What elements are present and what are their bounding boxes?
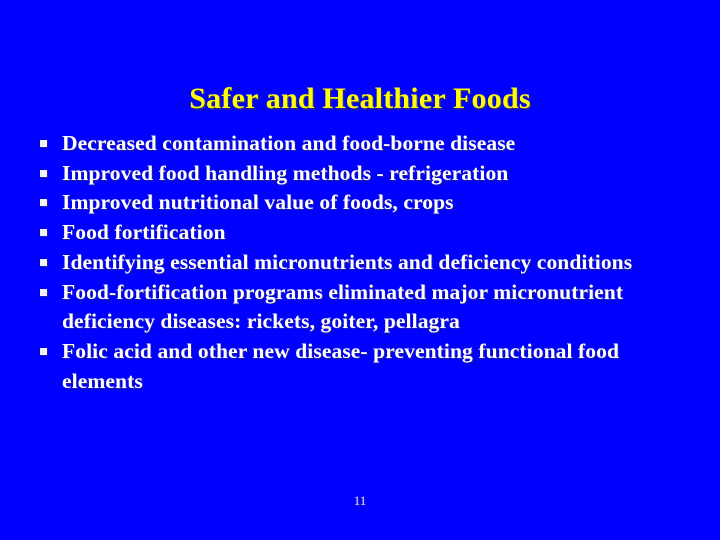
bullet-list: Decreased contamination and food-borne d… xyxy=(36,129,696,396)
list-item-label: Food fortification xyxy=(62,218,696,248)
list-item: Identifying essential micronutrients and… xyxy=(36,248,696,278)
list-item: Improved food handling methods - refrige… xyxy=(36,159,696,189)
square-bullet-icon xyxy=(40,259,47,266)
page-number: 11 xyxy=(0,493,720,509)
page-title: Safer and Healthier Foods xyxy=(0,82,720,116)
list-item: Food-fortification programs eliminated m… xyxy=(36,278,696,337)
list-item-label: Folic acid and other new disease- preven… xyxy=(62,337,696,396)
square-bullet-icon xyxy=(40,140,47,147)
list-item-label: Improved nutritional value of foods, cro… xyxy=(62,188,696,218)
square-bullet-icon xyxy=(40,170,47,177)
list-item-label: Identifying essential micronutrients and… xyxy=(62,248,696,278)
list-item-label: Food-fortification programs eliminated m… xyxy=(62,278,696,337)
list-item: Improved nutritional value of foods, cro… xyxy=(36,188,696,218)
list-item: Folic acid and other new disease- preven… xyxy=(36,337,696,396)
square-bullet-icon xyxy=(40,199,47,206)
list-item-label: Improved food handling methods - refrige… xyxy=(62,159,696,189)
square-bullet-icon xyxy=(40,348,47,355)
list-item: Decreased contamination and food-borne d… xyxy=(36,129,696,159)
list-item-label: Decreased contamination and food-borne d… xyxy=(62,129,696,159)
square-bullet-icon xyxy=(40,289,47,296)
square-bullet-icon xyxy=(40,229,47,236)
slide-canvas: Safer and Healthier Foods Decreased cont… xyxy=(0,0,720,540)
list-item: Food fortification xyxy=(36,218,696,248)
